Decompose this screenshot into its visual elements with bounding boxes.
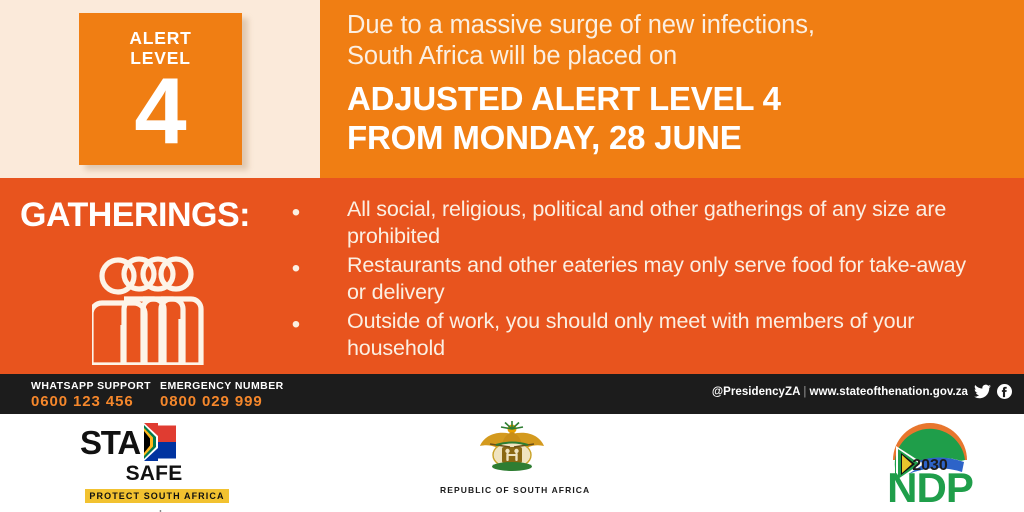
alert-level-badge: ALERT LEVEL 4: [79, 13, 242, 165]
twitter-icon[interactable]: [974, 384, 991, 404]
protect-south-africa-tagline: PROTECT SOUTH AFRICA: [85, 489, 228, 503]
headline-main-line2: FROM MONDAY, 28 JUNE: [347, 119, 742, 156]
headline-lead: Due to a massive surge of new infections…: [347, 10, 1007, 72]
headline-lead-line2: South Africa will be placed on: [347, 42, 677, 70]
emergency-number[interactable]: 0800 029 999: [160, 393, 284, 410]
social-icons-group: [974, 384, 1012, 404]
stay-safe-wordmark: STA: [72, 424, 242, 464]
website-url[interactable]: www.stateofthenation.gov.za: [809, 386, 968, 398]
headline-lead-line1: Due to a massive surge of new infections…: [347, 11, 815, 39]
headline-block: Due to a massive surge of new infections…: [347, 10, 1007, 157]
headline-main: ADJUSTED ALERT LEVEL 4 FROM MONDAY, 28 J…: [347, 80, 1007, 157]
list-item: • Outside of work, you should only meet …: [286, 308, 986, 362]
list-item: • Restaurants and other eateries may onl…: [286, 252, 986, 306]
alert-level-poster: ALERT LEVEL 4 Due to a massive surge of …: [0, 0, 1024, 512]
emergency-number-block: EMERGENCY NUMBER 0800 029 999: [160, 380, 284, 410]
ndp-2030-logo: 2030 NDP: [872, 420, 988, 512]
gatherings-bullet-list: • All social, religious, political and o…: [286, 196, 986, 364]
south-africa-flag-y-icon: [144, 423, 176, 461]
bullet-text: Outside of work, you should only meet wi…: [306, 308, 986, 362]
bullet-dot-icon: •: [286, 252, 306, 281]
gatherings-title: GATHERINGS:: [20, 196, 290, 235]
stay-safe-logo: STA SAFE PROTECT SOUTH AFRICA sacoronavi…: [72, 424, 242, 512]
bullet-text: All social, religious, political and oth…: [306, 196, 986, 250]
alert-kicker-line1: ALERT: [129, 28, 191, 48]
facebook-icon[interactable]: [997, 384, 1012, 404]
coat-of-arms-caption: REPUBLIC OF SOUTH AFRICA: [440, 485, 562, 495]
group-of-people-icon: [92, 247, 208, 365]
whatsapp-number[interactable]: 0600 123 456: [31, 393, 151, 410]
bullet-dot-icon: •: [286, 308, 306, 337]
alert-level-number: 4: [79, 70, 242, 153]
emergency-label: EMERGENCY NUMBER: [160, 380, 284, 392]
bullet-text: Restaurants and other eateries may only …: [306, 252, 986, 306]
stay-text: STA: [80, 424, 140, 462]
bullet-dot-icon: •: [286, 196, 306, 225]
whatsapp-label: WHATSAPP SUPPORT: [31, 380, 151, 392]
whatsapp-support-block: WHATSAPP SUPPORT 0600 123 456: [31, 380, 151, 410]
social-handle-line: @PresidencyZA|www.stateofthenation.gov.z…: [712, 386, 968, 398]
list-item: • All social, religious, political and o…: [286, 196, 986, 250]
twitter-handle[interactable]: @PresidencyZA: [712, 386, 801, 398]
headline-main-line1: ADJUSTED ALERT LEVEL 4: [347, 80, 781, 117]
coat-of-arms-south-africa: REPUBLIC OF SOUTH AFRICA: [462, 420, 562, 495]
svg-text:NDP: NDP: [887, 464, 973, 508]
safe-text: SAFE: [66, 462, 242, 486]
